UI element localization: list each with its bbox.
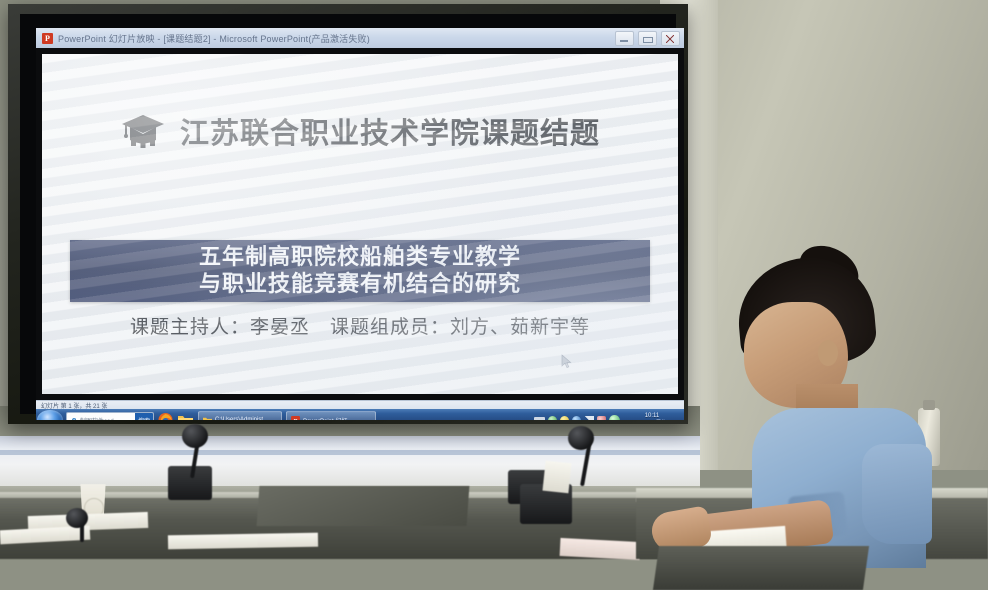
gooseneck-microphone xyxy=(66,508,88,528)
minimize-button[interactable] xyxy=(615,31,634,46)
taskbar-item-powerpoint-label: PowerPoint 幻灯... xyxy=(303,416,352,421)
start-orb-icon[interactable] xyxy=(37,410,63,420)
screen-scanline-glare xyxy=(42,54,678,394)
slide-title-line-2: 与职业技能竞赛有机结合的研究 xyxy=(199,271,521,299)
taskbar-item-powerpoint[interactable]: P PowerPoint 幻灯... xyxy=(286,411,376,421)
volume-icon[interactable] xyxy=(597,416,606,421)
taskbar-item-explorer[interactable]: C:\Users\Administ... xyxy=(198,411,282,421)
slide-header: 江苏联合职业技术学院课题结题 xyxy=(42,110,678,152)
folder-icon[interactable] xyxy=(177,411,194,420)
slide-header-text: 江苏联合职业技术学院课题结题 xyxy=(180,110,600,152)
powerpoint-icon: P xyxy=(291,416,300,421)
update-icon[interactable] xyxy=(572,416,581,421)
windows-taskbar[interactable]: e 制图软件cad 搜索 xyxy=(36,409,684,420)
search-input[interactable]: e 制图软件cad 搜索 xyxy=(66,412,154,421)
wall-display: P PowerPoint 幻灯片放映 - [课题结题2] - Microsoft… xyxy=(8,4,688,424)
clock-time: 10:11 xyxy=(623,412,681,420)
qq-icon[interactable] xyxy=(609,415,620,421)
slideshow-area[interactable]: 江苏联合职业技术学院课题结题 五年制高职院校船舶类专业教学 与职业技能竞赛有机结… xyxy=(36,48,684,400)
powerpoint-icon: P xyxy=(42,33,53,44)
restore-button[interactable] xyxy=(638,31,657,46)
gooseneck-microphone xyxy=(568,426,594,450)
graduation-cap-icon xyxy=(120,113,166,149)
slide-title-band: 五年制高职院校船舶类专业教学 与职业技能竞赛有机结合的研究 xyxy=(70,240,650,302)
window-controls[interactable] xyxy=(615,31,680,46)
conference-room-scene: P PowerPoint 幻灯片放映 - [课题结题2] - Microsoft… xyxy=(0,0,988,559)
search-input-value: 制图软件cad xyxy=(80,416,114,421)
close-button[interactable] xyxy=(661,31,680,46)
mouse-pointer-icon xyxy=(561,354,572,369)
antivirus-icon[interactable] xyxy=(560,416,569,421)
display-inner-bezel: P PowerPoint 幻灯片放映 - [课题结题2] - Microsoft… xyxy=(20,14,676,414)
slide-title-line-1: 五年制高职院校船舶类专业教学 xyxy=(199,244,521,272)
network-icon[interactable] xyxy=(584,416,594,420)
window-strip xyxy=(0,436,700,488)
laptop xyxy=(653,546,869,590)
paper-sheet xyxy=(543,461,572,494)
search-button[interactable]: 搜索 xyxy=(135,413,153,421)
folder-icon xyxy=(203,416,212,421)
hidden-icons-icon[interactable] xyxy=(534,417,545,421)
person-sleeve xyxy=(862,444,932,544)
svg-text:P: P xyxy=(294,417,298,420)
slide-1[interactable]: 江苏联合职业技术学院课题结题 五年制高职院校船舶类专业教学 与职业技能竞赛有机结… xyxy=(42,54,678,394)
person-ear xyxy=(818,340,838,366)
taskbar-clock[interactable]: 10:11 2019/7/5 星期五 xyxy=(623,412,681,420)
screen-reflection-glare xyxy=(42,54,678,394)
window-title: PowerPoint 幻灯片放映 - [课题结题2] - Microsoft P… xyxy=(58,32,370,45)
display-screen[interactable]: P PowerPoint 幻灯片放映 - [课题结题2] - Microsoft… xyxy=(36,28,684,420)
seated-person xyxy=(686,258,926,559)
table-center-panel xyxy=(257,486,470,526)
system-tray[interactable]: 10:11 2019/7/5 星期五 xyxy=(534,412,684,420)
shield-icon[interactable] xyxy=(548,416,557,421)
firefox-icon[interactable] xyxy=(157,411,174,420)
powerpoint-title-bar[interactable]: P PowerPoint 幻灯片放映 - [课题结题2] - Microsoft… xyxy=(36,28,684,49)
slide-authors: 课题主持人：李晏丞 课题组成员：刘方、茹新宇等 xyxy=(42,312,678,339)
documents xyxy=(168,533,318,550)
internet-explorer-icon: e xyxy=(68,414,80,421)
taskbar-item-explorer-label: C:\Users\Administ... xyxy=(215,417,268,420)
gooseneck-microphone xyxy=(182,424,208,448)
